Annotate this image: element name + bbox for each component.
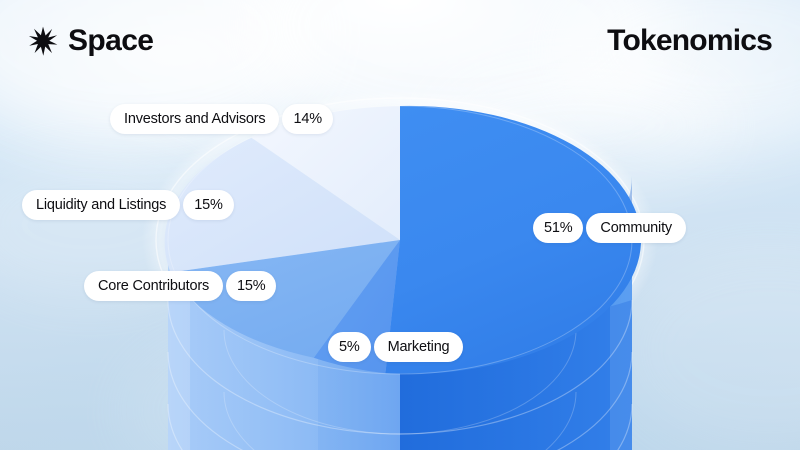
label-text: Core Contributors: [84, 271, 223, 301]
label-text: Liquidity and Listings: [22, 190, 180, 220]
label-community[interactable]: 51% Community: [533, 213, 686, 243]
page-title: Tokenomics: [607, 24, 772, 58]
label-percent: 51%: [533, 213, 583, 243]
starburst-icon: [28, 26, 58, 56]
slide-header: Space Tokenomics: [0, 0, 800, 82]
label-percent: 5%: [328, 332, 371, 362]
label-percent: 15%: [226, 271, 276, 301]
label-percent: 15%: [183, 190, 233, 220]
label-text: Marketing: [374, 332, 464, 362]
tokenomics-slide: Space Tokenomics: [0, 0, 800, 450]
label-percent: 14%: [282, 104, 332, 134]
label-marketing[interactable]: 5% Marketing: [328, 332, 463, 362]
label-core-contributors[interactable]: Core Contributors 15%: [84, 271, 276, 301]
brand-logo[interactable]: Space: [28, 24, 153, 58]
label-text: Community: [586, 213, 686, 243]
label-liquidity-listings[interactable]: Liquidity and Listings 15%: [22, 190, 234, 220]
label-text: Investors and Advisors: [110, 104, 279, 134]
label-investors-advisors[interactable]: Investors and Advisors 14%: [110, 104, 333, 134]
brand-name: Space: [68, 24, 153, 58]
